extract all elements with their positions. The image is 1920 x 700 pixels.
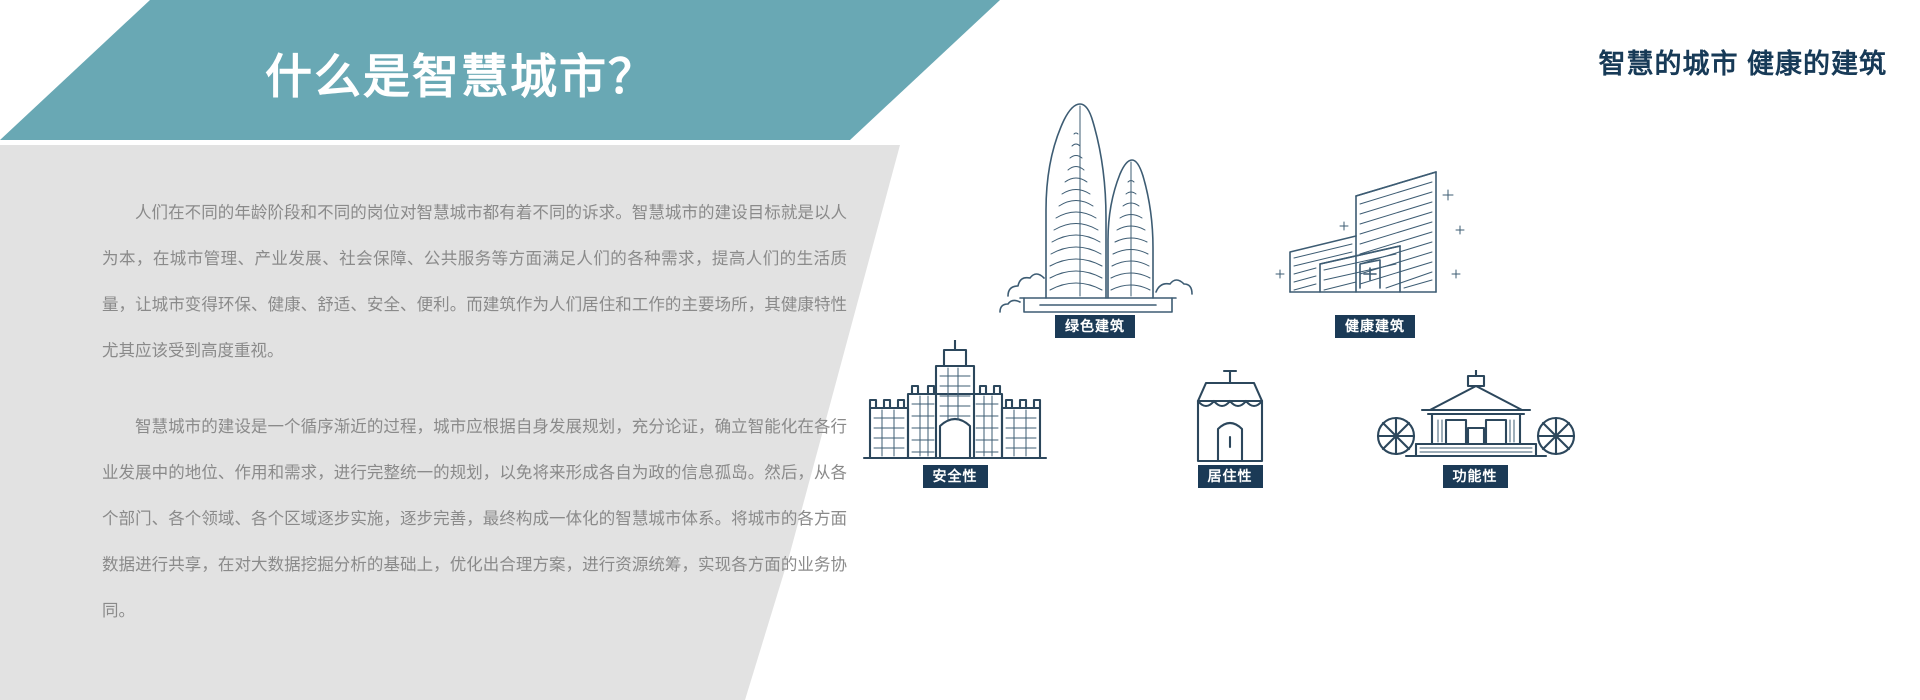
paragraph-1: 人们在不同的年龄阶段和不同的岗位对智慧城市都有着不同的诉求。智慧城市的建设目标就… <box>102 190 847 374</box>
twin-towers-icon <box>980 100 1210 315</box>
icon-label-safety: 安全性 <box>923 465 988 488</box>
icon-label-health-building: 健康建筑 <box>1335 315 1415 338</box>
icon-cell-functionality[interactable]: 功能性 <box>1360 370 1590 488</box>
icon-gallery: 绿色建筑 <box>840 100 1920 700</box>
house-shop-icon <box>1140 365 1320 465</box>
icon-cell-livability[interactable]: 居住性 <box>1140 365 1320 488</box>
castle-icon <box>840 340 1070 465</box>
page-title: 什么是智慧城市？ <box>265 38 657 107</box>
pavilion-icon <box>1360 370 1590 465</box>
hospital-building-icon <box>1260 160 1490 315</box>
icon-label-livability: 居住性 <box>1198 465 1263 488</box>
icon-label-green-building: 绿色建筑 <box>1055 315 1135 338</box>
icon-cell-health-building[interactable]: 健康建筑 <box>1260 160 1490 338</box>
body-text-block: 人们在不同的年龄阶段和不同的岗位对智慧城市都有着不同的诉求。智慧城市的建设目标就… <box>102 190 847 634</box>
paragraph-2: 智慧城市的建设是一个循序渐近的过程，城市应根据自身发展规划，充分论证，确立智能化… <box>102 404 847 634</box>
icon-cell-green-building[interactable]: 绿色建筑 <box>980 100 1210 338</box>
right-headline: 智慧的城市 健康的建筑 <box>1598 42 1887 81</box>
icon-label-functionality: 功能性 <box>1443 465 1508 488</box>
icon-cell-safety[interactable]: 安全性 <box>840 340 1070 488</box>
